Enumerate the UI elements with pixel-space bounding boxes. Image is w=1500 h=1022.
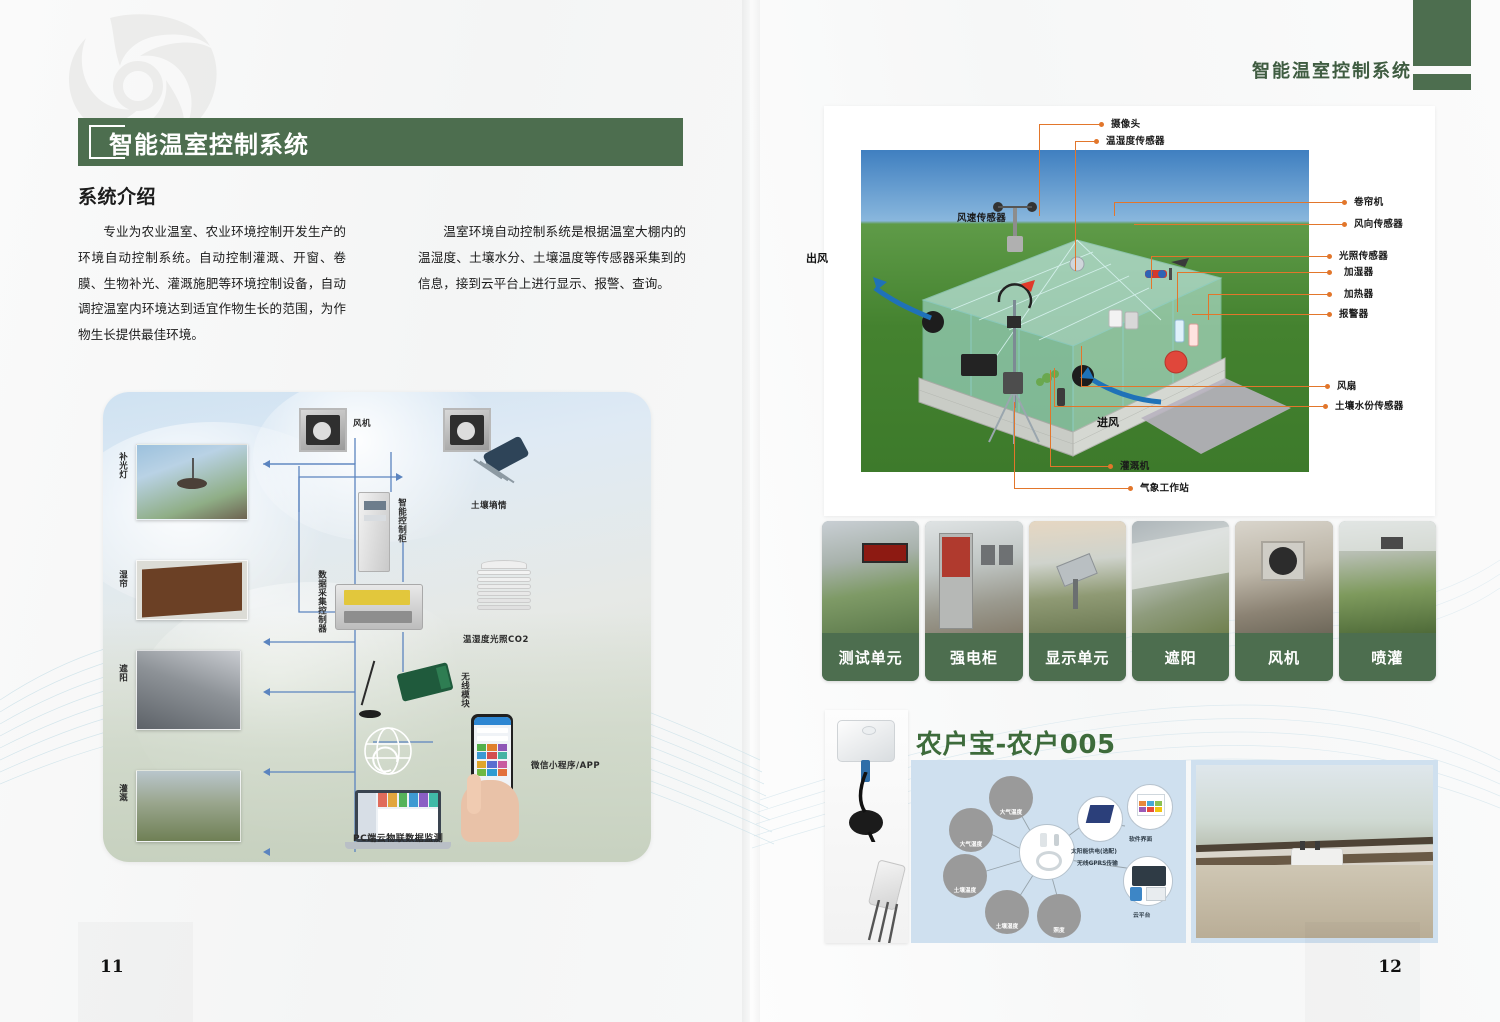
leader-line xyxy=(1054,368,1055,406)
soil-sensor-icon xyxy=(463,442,533,502)
label-irrigation-machine: 灌溉机 xyxy=(1120,458,1149,472)
leader-dot xyxy=(1342,200,1347,205)
page-gutter xyxy=(742,0,760,1022)
diagram-label-pc-monitoring: PC端云物联数据监测 xyxy=(353,834,443,844)
brochure-spread: 智能温室控制系统 智能温室控制系统 系统介绍 专业为农业温室、农业环境控制开发生… xyxy=(0,0,1500,1022)
page-number-right: 12 xyxy=(1378,957,1402,977)
photo xyxy=(1235,521,1332,633)
photo xyxy=(1339,521,1436,633)
paragraph-text: 专业为农业温室、农业环境控制开发生产的环境自动控制系统。自动控制灌溉、开窗、卷膜… xyxy=(78,219,346,348)
leader-dot xyxy=(1323,404,1328,409)
diagram-label-wechat-app: 微信小程序/APP xyxy=(531,762,600,772)
cloud-globe-icon xyxy=(359,722,417,780)
label-weather-station: 气象工作站 xyxy=(1140,480,1189,494)
intro-paragraph-1: 专业为农业温室、农业环境控制开发生产的环境自动控制系统。自动控制灌溉、开窗、卷膜… xyxy=(78,219,346,348)
label-camera: 摄像头 xyxy=(1111,116,1140,130)
leader-line xyxy=(1050,466,1110,467)
leader-line xyxy=(1050,370,1051,466)
node-cloud-platform xyxy=(1123,856,1173,906)
smart-control-cabinet-icon xyxy=(358,492,390,572)
node-air-humidity: 大气湿度 xyxy=(949,808,993,852)
label-temp-humidity-sensor: 温湿度传感器 xyxy=(1106,133,1165,147)
label-wind-direction-sensor: 风向传感器 xyxy=(1354,216,1403,230)
diagram-label-soil-moisture: 土壤墒情 xyxy=(471,502,507,512)
farmer-topology-diagram: 大气温度 大气湿度 土壤温度 土壤湿度 照度 太阳能供电(选配) 软件界面 xyxy=(911,760,1186,943)
leader-dot xyxy=(1327,312,1332,317)
node-soil-humidity: 土壤湿度 xyxy=(985,890,1029,934)
strip-item-fan[interactable]: 风机 xyxy=(1235,521,1332,681)
enclosure-box xyxy=(837,720,895,762)
photo xyxy=(1132,521,1229,633)
leader-line xyxy=(1192,314,1329,315)
fan-unit-icon xyxy=(299,408,347,452)
diagram-label-supplemental-light: 补光灯 xyxy=(117,452,127,479)
strip-caption: 显示单元 xyxy=(1029,633,1126,681)
system-architecture-diagram: 补光灯 湿帘 遮阳 灌溉 风机 智能控制柜 数据采集控制器 xyxy=(103,392,651,862)
strip-caption: 测试单元 xyxy=(822,633,919,681)
label-soil-moisture-sensor: 土壤水份传感器 xyxy=(1335,398,1404,412)
diagram-label-shading: 遮阳 xyxy=(117,664,127,682)
strip-item-shading[interactable]: 遮阳 xyxy=(1132,521,1229,681)
antenna-icon xyxy=(341,660,391,730)
field-installation-photo xyxy=(1191,760,1438,943)
paragraph-text: 温室环境自动控制系统是根据温室大棚内的温湿度、土壤水分、土壤温度等传感器采集到的… xyxy=(418,219,686,296)
diagram-label-irrigation: 灌溉 xyxy=(117,784,127,802)
leader-line xyxy=(1075,141,1076,271)
leader-line xyxy=(1081,346,1082,386)
section-heading: 系统介绍 xyxy=(78,182,156,209)
soil-probe-pins xyxy=(863,900,908,943)
leader-dot xyxy=(1108,464,1113,469)
header-accent-block-top xyxy=(1413,0,1471,66)
leader-line xyxy=(1014,402,1015,488)
label-humidifier: 加湿器 xyxy=(1344,264,1373,278)
greenhouse-diagram-panel: 进风 风速传感器 出风 摄像头 温湿度传感器 卷帘机 风向传感器 光照传感器 加… xyxy=(824,106,1435,516)
strip-caption: 风机 xyxy=(1235,633,1332,681)
photo-wet-curtain xyxy=(136,560,248,620)
leader-line xyxy=(1151,256,1329,257)
leader-dot xyxy=(1327,270,1332,275)
leader-line xyxy=(1114,202,1344,203)
center-device-node xyxy=(1019,824,1075,880)
weather-shield-sensor-icon xyxy=(473,560,535,622)
smartphone-app-icon xyxy=(461,714,527,842)
page-number-left: 11 xyxy=(100,957,124,977)
greenhouse-3d-scene: 进风 风速传感器 xyxy=(861,150,1309,472)
photo-irrigation xyxy=(136,770,241,842)
leader-dot xyxy=(1342,222,1347,227)
node-soil-temperature: 土壤温度 xyxy=(943,854,987,898)
node-label: 土壤湿度 xyxy=(996,922,1018,930)
diagram-label-wireless-module: 无线模块 xyxy=(459,672,469,708)
leader-dot xyxy=(1094,139,1099,144)
leader-line xyxy=(1114,202,1115,216)
data-acquisition-controller-icon xyxy=(335,584,423,630)
strip-item-display-unit[interactable]: 显示单元 xyxy=(1029,521,1126,681)
cable xyxy=(825,772,908,842)
photo xyxy=(1196,765,1433,938)
strip-caption: 喷灌 xyxy=(1339,633,1436,681)
leader-line xyxy=(1177,272,1329,273)
photo-shading xyxy=(136,650,241,730)
strip-item-sprinkler[interactable]: 喷灌 xyxy=(1339,521,1436,681)
leader-line xyxy=(1134,224,1344,225)
leader-line xyxy=(1081,386,1327,387)
diagram-label-smart-cabinet: 智能控制柜 xyxy=(396,498,406,543)
node-label: 土壤温度 xyxy=(954,886,976,894)
photo-supplemental-light xyxy=(136,444,248,520)
airflow-in-label: 进风 xyxy=(1097,414,1119,430)
photo xyxy=(925,521,1022,633)
leader-dot xyxy=(1128,486,1133,491)
node-label: 大气湿度 xyxy=(960,840,982,848)
leader-line xyxy=(1039,124,1102,125)
leader-dot xyxy=(1325,384,1330,389)
label-heater: 加热器 xyxy=(1344,286,1373,300)
page-number-plate-right xyxy=(1305,922,1420,1022)
leader-line xyxy=(1039,124,1040,216)
section-title-bar: 智能温室控制系统 xyxy=(78,118,683,166)
leader-line xyxy=(1208,294,1329,295)
leader-dot xyxy=(1099,122,1104,127)
caption-software-ui: 软件界面 xyxy=(1129,834,1152,843)
leader-line xyxy=(1075,141,1096,142)
photo xyxy=(1029,521,1126,633)
diagram-label-wet-curtain: 湿帘 xyxy=(117,570,127,588)
header-accent-block-bottom xyxy=(1413,74,1471,90)
label-wind-speed-sensor: 风速传感器 xyxy=(957,210,1006,224)
node-label: 照度 xyxy=(1053,926,1064,934)
leader-line xyxy=(1177,272,1178,312)
label-fan: 风扇 xyxy=(1337,378,1357,392)
caption-solar-power: 太阳能供电(选配) xyxy=(1071,846,1117,855)
page-title: 智能温室控制系统 xyxy=(109,125,309,160)
node-label: 大气温度 xyxy=(1000,808,1022,816)
diagram-label-data-controller: 数据采集控制器 xyxy=(316,570,326,633)
diagram-label-multi-sensor: 温湿度光照CO2 xyxy=(463,636,529,646)
farmer-device-photo xyxy=(825,710,908,943)
strip-item-power-cabinet[interactable]: 强电柜 xyxy=(925,521,1022,681)
leader-dot xyxy=(1327,254,1332,259)
strip-caption: 遮阳 xyxy=(1132,633,1229,681)
node-air-temperature: 大气温度 xyxy=(989,776,1033,820)
leader-line xyxy=(1054,406,1325,407)
node-software-ui xyxy=(1127,784,1173,830)
leader-line xyxy=(1208,294,1209,320)
strip-caption: 强电柜 xyxy=(925,633,1022,681)
photo-strip: 测试单元 强电柜 显示单元 遮阳 xyxy=(822,521,1436,681)
leader-line xyxy=(1014,488,1130,489)
airflow-out-label: 出风 xyxy=(806,250,828,266)
label-roller-blind-machine: 卷帘机 xyxy=(1354,194,1383,208)
leader-dot xyxy=(1327,292,1332,297)
strip-item-test-unit[interactable]: 测试单元 xyxy=(822,521,919,681)
node-solar-power xyxy=(1077,796,1123,842)
label-alarm: 报警器 xyxy=(1339,306,1368,320)
caption-cloud-platform: 云平台 xyxy=(1133,910,1150,919)
intro-paragraph-2: 温室环境自动控制系统是根据温室大棚内的温湿度、土壤水分、土壤温度等传感器采集到的… xyxy=(418,219,686,296)
photo xyxy=(822,521,919,633)
caption-gprs-link: 无线GPRS传输 xyxy=(1077,858,1118,867)
running-head: 智能温室控制系统 xyxy=(1252,57,1412,83)
page-number-plate-left xyxy=(78,922,193,1022)
label-light-sensor: 光照传感器 xyxy=(1339,248,1388,262)
node-illuminance: 照度 xyxy=(1037,894,1081,938)
farmer-section-title: 农户宝-农户005 xyxy=(916,724,1116,761)
diagram-label-fan: 风机 xyxy=(353,420,371,430)
leader-line xyxy=(1151,256,1152,289)
